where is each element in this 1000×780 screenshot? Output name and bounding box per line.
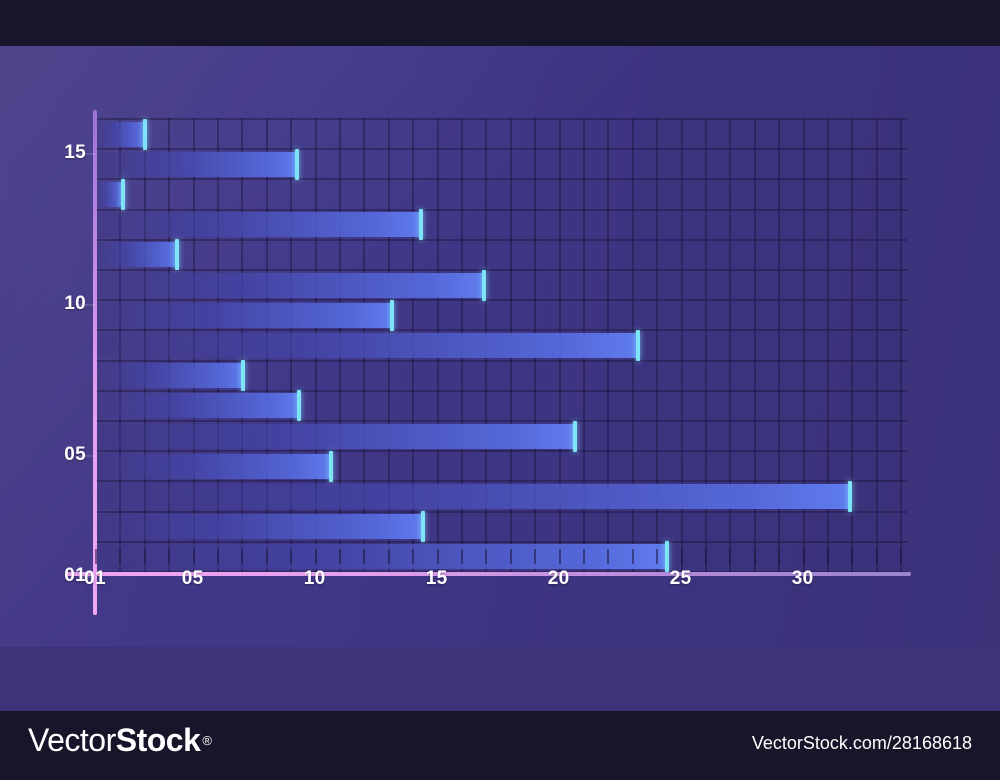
grid-line-horizontal bbox=[95, 390, 907, 392]
bar bbox=[95, 333, 639, 358]
vectorstock-url: VectorStock.com/28168618 bbox=[752, 733, 972, 754]
x-axis-tick bbox=[656, 549, 658, 564]
x-axis-tick bbox=[632, 549, 634, 564]
grid-line-horizontal bbox=[95, 269, 907, 271]
bar-end-cap bbox=[143, 119, 147, 150]
bar bbox=[95, 182, 124, 207]
bar bbox=[95, 424, 576, 449]
x-axis-tick bbox=[876, 549, 878, 564]
grid-line-horizontal bbox=[95, 480, 907, 482]
x-axis-tick bbox=[485, 549, 487, 564]
bar bbox=[95, 152, 298, 177]
grid-line-horizontal bbox=[95, 420, 907, 422]
plot-area bbox=[95, 118, 907, 576]
bar-end-cap bbox=[482, 270, 486, 301]
x-tick-label: 25 bbox=[670, 568, 692, 590]
x-axis-tick bbox=[315, 549, 317, 564]
bar-end-cap bbox=[573, 421, 577, 452]
x-axis-tick bbox=[144, 549, 146, 564]
bar bbox=[95, 212, 422, 237]
bar bbox=[95, 122, 146, 147]
bar bbox=[95, 303, 393, 328]
bar-end-cap bbox=[175, 239, 179, 270]
logo-stock-text: Stock bbox=[116, 722, 201, 759]
y-axis-tick bbox=[79, 153, 95, 155]
x-axis-tick bbox=[583, 549, 585, 564]
x-tick-label: 15 bbox=[426, 568, 448, 590]
x-axis-tick bbox=[217, 549, 219, 564]
grid-line-horizontal bbox=[95, 209, 907, 211]
x-tick-label: 30 bbox=[792, 568, 814, 590]
grid-line-horizontal bbox=[95, 148, 907, 150]
x-axis-tick bbox=[510, 549, 512, 564]
x-axis-tick bbox=[241, 549, 243, 564]
bar bbox=[95, 273, 485, 298]
bar-end-cap bbox=[121, 179, 125, 210]
vectorstock-logo: VectorStock® bbox=[28, 722, 211, 759]
grid-line-horizontal bbox=[95, 511, 907, 513]
y-axis-tick bbox=[79, 455, 95, 457]
x-axis-tick bbox=[607, 549, 609, 564]
grid-line-horizontal bbox=[95, 360, 907, 362]
chart-illustration: 01051015 VectorStock® VectorStock.com/28… bbox=[0, 0, 1000, 780]
x-tick-label: 01 bbox=[84, 568, 106, 590]
x-axis-tick bbox=[778, 549, 780, 564]
x-axis-tick bbox=[363, 549, 365, 564]
grid-line-horizontal bbox=[95, 118, 907, 120]
bar bbox=[95, 363, 244, 388]
bar-end-cap bbox=[636, 330, 640, 361]
panel-footer-strip bbox=[0, 647, 1000, 711]
grid-line-horizontal bbox=[95, 450, 907, 452]
x-tick-label: 10 bbox=[304, 568, 326, 590]
x-axis-tick bbox=[168, 549, 170, 564]
x-axis-tick bbox=[388, 549, 390, 564]
y-axis-tick bbox=[79, 304, 95, 306]
x-axis-tick bbox=[534, 549, 536, 564]
x-axis-tick bbox=[900, 549, 902, 564]
x-axis-tick bbox=[803, 549, 805, 564]
grid-line-horizontal bbox=[95, 239, 907, 241]
x-axis-tick bbox=[290, 549, 292, 564]
x-axis-tick bbox=[412, 549, 414, 564]
bar-end-cap bbox=[241, 360, 245, 391]
x-tick-label: 20 bbox=[548, 568, 570, 590]
x-axis-tick bbox=[681, 549, 683, 564]
bar-end-cap bbox=[848, 481, 852, 512]
bar bbox=[95, 393, 300, 418]
grid-line-horizontal bbox=[95, 329, 907, 331]
bar-end-cap bbox=[421, 511, 425, 542]
logo-vector-text: Vector bbox=[28, 722, 116, 759]
x-axis-tick bbox=[95, 549, 97, 564]
bar-end-cap bbox=[295, 149, 299, 180]
grid-line-vertical bbox=[876, 118, 878, 576]
bar bbox=[95, 514, 424, 539]
grid-line-horizontal bbox=[95, 541, 907, 543]
x-tick-label: 05 bbox=[182, 568, 204, 590]
y-axis-tick-labels: 01051015 bbox=[0, 0, 86, 780]
registered-mark: ® bbox=[202, 733, 211, 748]
grid-line-vertical bbox=[900, 118, 902, 576]
x-axis-tick bbox=[705, 549, 707, 564]
x-axis-tick bbox=[266, 549, 268, 564]
y-axis-line bbox=[93, 110, 97, 615]
x-axis-tick bbox=[754, 549, 756, 564]
bar-end-cap bbox=[329, 451, 333, 482]
bar-end-cap bbox=[390, 300, 394, 331]
x-axis-tick bbox=[827, 549, 829, 564]
x-axis-tick bbox=[559, 549, 561, 564]
x-axis-tick bbox=[729, 549, 731, 564]
letterbox-top bbox=[0, 0, 1000, 46]
x-axis-tick bbox=[119, 549, 121, 564]
bar-end-cap bbox=[297, 390, 301, 421]
x-axis-tick bbox=[437, 549, 439, 564]
bar-end-cap bbox=[419, 209, 423, 240]
x-axis-tick bbox=[461, 549, 463, 564]
bar bbox=[95, 484, 851, 509]
x-axis-tick bbox=[851, 549, 853, 564]
bar bbox=[95, 454, 332, 479]
x-axis-tick bbox=[339, 549, 341, 564]
bar bbox=[95, 242, 178, 267]
grid-line-horizontal bbox=[95, 178, 907, 180]
grid-line-horizontal bbox=[95, 299, 907, 301]
x-axis-tick bbox=[193, 549, 195, 564]
y-axis-tick bbox=[79, 576, 95, 578]
